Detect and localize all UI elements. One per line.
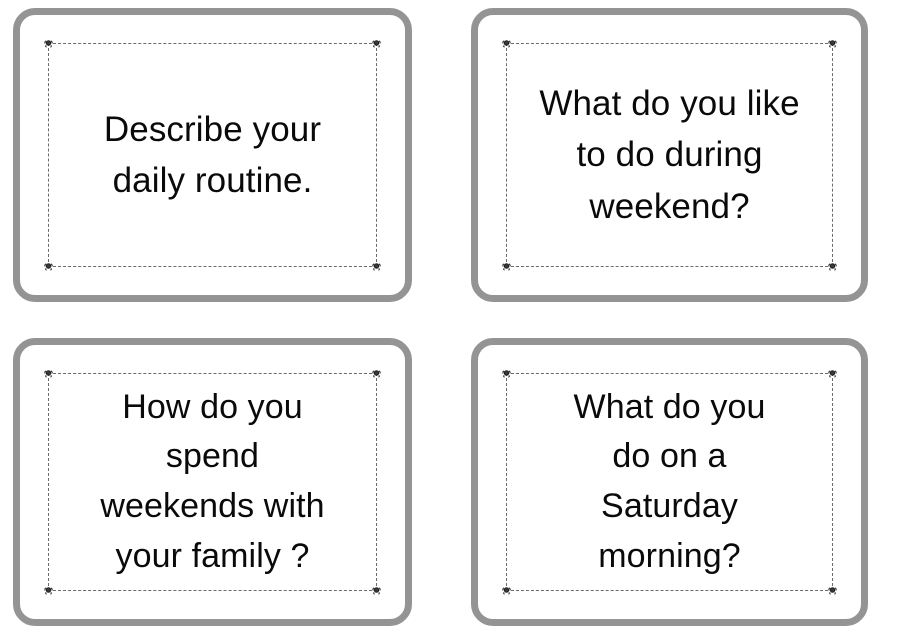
flashcard-grid: Describe your daily routine. What do you… [0,0,900,638]
flashcard-bottom-left[interactable]: How do you spend weekends with your fami… [13,338,412,626]
flashcard-top-left[interactable]: Describe your daily routine. [13,8,412,302]
question-text: What do you like to do during weekend? [506,78,833,231]
inner-decorative-frame: Describe your daily routine. [48,43,377,267]
frame-line-bottom [48,590,377,591]
frame-line-top [48,43,377,44]
flashcard-top-right[interactable]: What do you like to do during weekend? [471,8,868,302]
question-text: Describe your daily routine. [48,104,377,206]
question-text: How do you spend weekends with your fami… [48,383,377,582]
frame-line-bottom [506,266,833,267]
inner-decorative-frame: What do you do on a Saturday morning? [506,373,833,591]
frame-line-top [506,373,833,374]
frame-line-bottom [48,266,377,267]
frame-line-top [48,373,377,374]
flashcard-bottom-right[interactable]: What do you do on a Saturday morning? [471,338,868,626]
inner-decorative-frame: How do you spend weekends with your fami… [48,373,377,591]
frame-line-bottom [506,590,833,591]
question-text: What do you do on a Saturday morning? [506,383,833,582]
frame-line-top [506,43,833,44]
inner-decorative-frame: What do you like to do during weekend? [506,43,833,267]
